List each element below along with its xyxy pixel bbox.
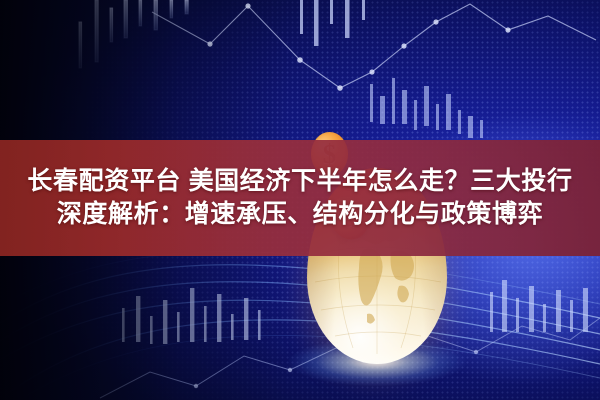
headline-banner bbox=[0, 140, 600, 256]
banner-image: $ $ 长春配资平台 美国经济下半年怎么走？三大投行 深度解析：增速承压、结构分… bbox=[0, 0, 600, 400]
